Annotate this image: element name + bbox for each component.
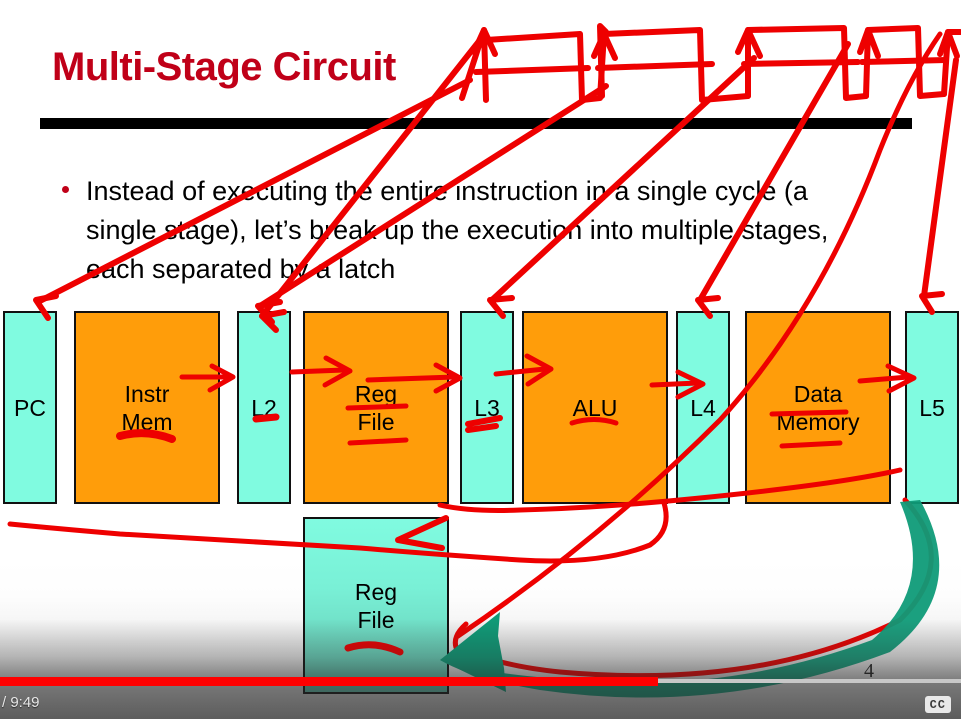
closed-captions-button[interactable]: CC	[925, 696, 951, 713]
diagram-block-pc: PC	[3, 311, 57, 504]
diagram-block-l4: L4	[676, 311, 730, 504]
slide-title: Multi-Stage Circuit	[52, 45, 396, 90]
diagram-block-l5-label: L5	[919, 394, 945, 422]
diagram-block-data-memory: DataMemory	[745, 311, 891, 504]
time-display: / 9:49	[2, 694, 40, 711]
diagram-block-instr-mem: InstrMem	[74, 311, 220, 504]
video-player-controls: / 9:49 CC	[0, 619, 961, 719]
diagram-block-l4-label: L4	[690, 394, 716, 422]
diagram-block-l2-label: L2	[251, 394, 277, 422]
diagram-block-pc-label: PC	[14, 394, 46, 422]
diagram-block-instr-mem-label: InstrMem	[121, 380, 172, 436]
diagram-block-reg-file: RegFile	[303, 311, 449, 504]
diagram-block-l5: L5	[905, 311, 959, 504]
progress-bar-fill[interactable]	[0, 677, 658, 686]
diagram-block-l2: L2	[237, 311, 291, 504]
video-player-frame: Multi-Stage Circuit Instead of executing…	[0, 0, 961, 719]
diagram-block-l3: L3	[460, 311, 514, 504]
bullet-marker-icon	[62, 186, 69, 193]
presentation-slide: Multi-Stage Circuit Instead of executing…	[0, 0, 961, 719]
diagram-block-alu-label: ALU	[573, 394, 618, 422]
diagram-block-data-memory-label: DataMemory	[776, 380, 859, 436]
title-underline-rule	[40, 118, 912, 129]
bullet-item-text: Instead of executing the entire instruct…	[86, 172, 876, 289]
diagram-block-reg-file-label: RegFile	[355, 380, 397, 436]
diagram-block-l3-label: L3	[474, 394, 500, 422]
diagram-block-alu: ALU	[522, 311, 668, 504]
